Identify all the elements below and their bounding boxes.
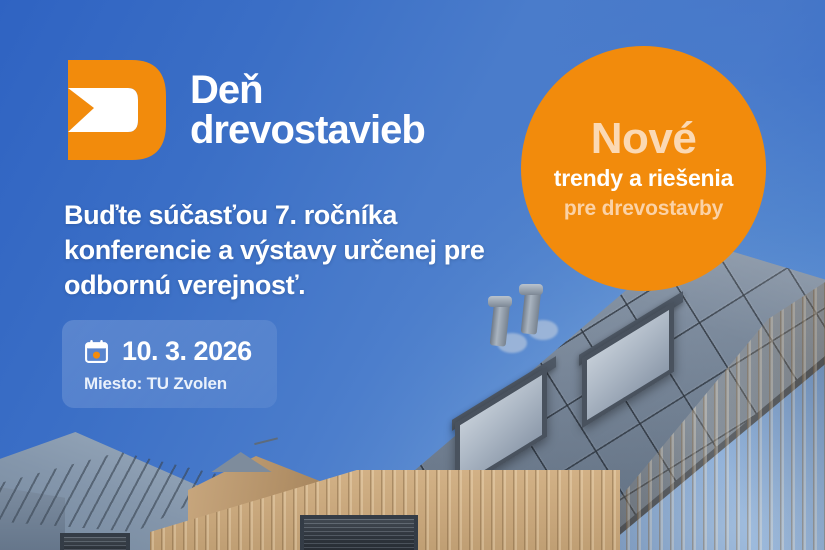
event-place: Miesto: TU Zvolen [84, 374, 227, 394]
calendar-icon [84, 339, 109, 364]
window-secondary [60, 533, 130, 550]
badge-line-1: Nové [591, 117, 697, 161]
event-date: 10. 3. 2026 [122, 336, 252, 367]
vent-cap-right [519, 284, 543, 295]
window-shutter-slats-secondary [64, 537, 126, 550]
brand-name: Deň drevostavieb [190, 71, 425, 151]
deň-drevostavieb-logo-icon [62, 58, 172, 163]
brand-logo: Deň drevostavieb [62, 58, 425, 163]
headline-text: Buďte súčasťou 7. ročníka konferencie a … [64, 198, 494, 303]
event-details-card: 10. 3. 2026 Miesto: TU Zvolen [62, 320, 277, 408]
brand-name-line-1: Deň [190, 71, 425, 110]
roof-antenna [254, 437, 282, 460]
event-date-row: 10. 3. 2026 [84, 336, 252, 367]
badge-line-3: pre drevostavby [564, 197, 723, 220]
brand-name-line-2: drevostavieb [190, 110, 425, 151]
badge-line-2: trendy a riešenia [554, 166, 733, 191]
window-main [300, 515, 418, 550]
promo-badge: Nové trendy a riešenia pre drevostavby [521, 46, 766, 291]
promo-banner: Nové trendy a riešenia pre drevostavby D… [0, 0, 825, 550]
window-shutter-slats [304, 519, 414, 550]
